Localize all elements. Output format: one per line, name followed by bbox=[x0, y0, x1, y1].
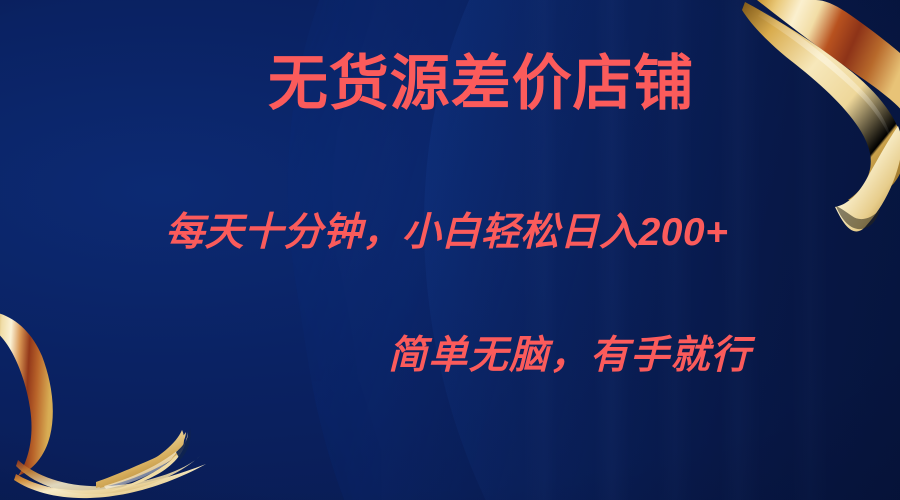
poster-title: 无货源差价店铺 bbox=[268, 52, 694, 117]
poster-tagline: 简单无脑，有手就行 bbox=[388, 333, 751, 380]
promo-poster: 无货源差价店铺 每天十分钟，小白轻松日入200+ 简单无脑，有手就行 bbox=[0, 0, 900, 500]
headline-layer: 无货源差价店铺 每天十分钟，小白轻松日入200+ 简单无脑，有手就行 bbox=[0, 0, 900, 500]
poster-subtitle: 每天十分钟，小白轻松日入200+ bbox=[165, 210, 728, 257]
